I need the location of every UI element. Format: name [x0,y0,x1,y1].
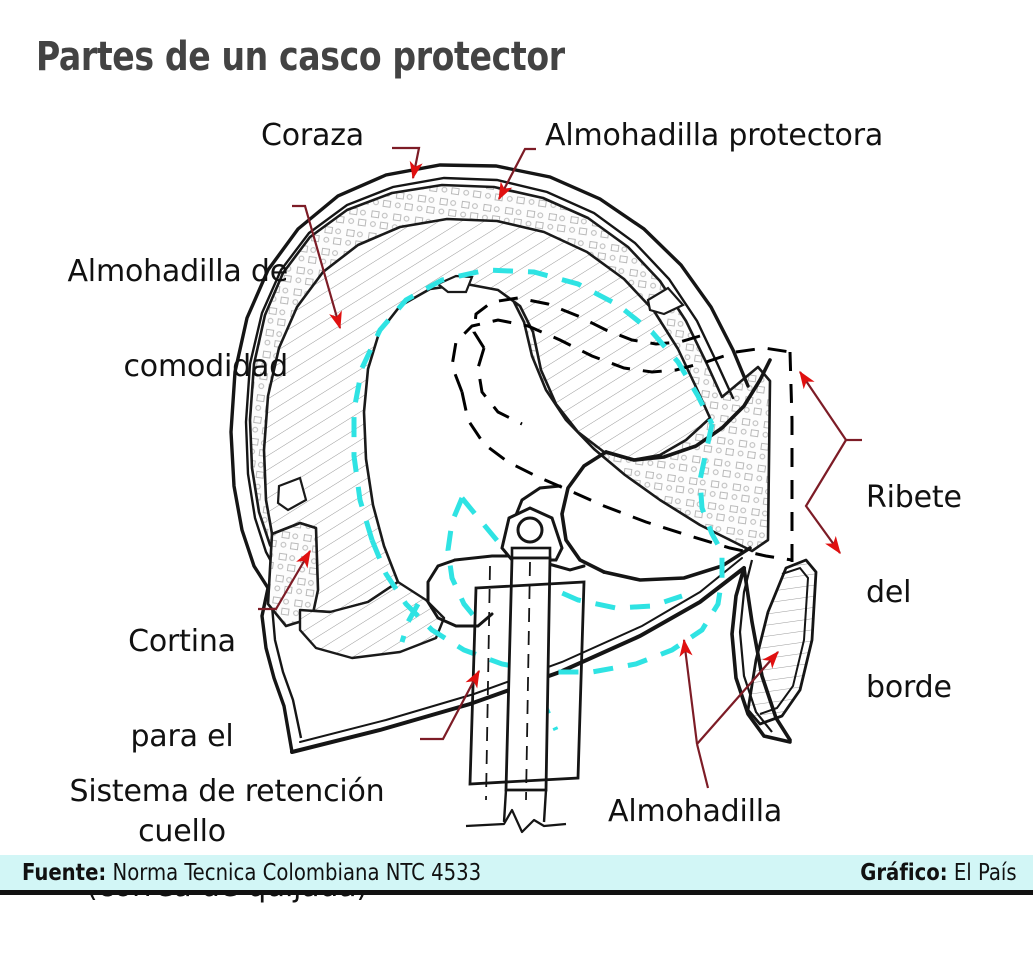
label-ribete-line2: del [866,577,1026,609]
chin-bar-pad [748,560,816,724]
label-almohadilla-protectora: Almohadilla protectora [545,120,883,152]
footer-source-value: Norma Tecnica Colombiana NTC 4533 [113,860,482,886]
label-cortina-line1: Cortina [112,626,252,658]
leader-ribete-branch-bottom [806,440,846,553]
leader-almohadilla-stem [697,744,708,788]
footer-credit-value: El País [954,860,1017,886]
leader-almohadilla-branch-left [684,640,697,744]
label-ribete-line3: borde [866,672,1026,704]
footer-source: Fuente: Norma Tecnica Colombiana NTC 453… [22,860,481,886]
helmet-cross-section-diagram: Coraza Almohadilla protectora Almohadill… [0,0,1033,855]
label-ribete-line1: Ribete [866,482,1026,514]
label-sistema-de-retencion: Sistema de retención (correa de quijada) [40,712,414,966]
label-sistema-line1: Sistema de retención [40,776,414,808]
label-almohadilla: Almohadilla [608,796,782,828]
footer-bar: Fuente: Norma Tecnica Colombiana NTC 453… [0,855,1033,895]
footer-source-label: Fuente: [22,860,106,886]
footer-credit-label: Gráfico: [861,860,948,886]
label-almohadilla-comodidad: Almohadilla de comodidad [26,192,288,446]
footer-credit: Gráfico: El País [861,860,1017,886]
label-coraza: Coraza [261,120,364,152]
label-ribete-del-borde: Ribete del borde [866,418,1026,768]
label-almohadilla-comodidad-line2: comodidad [26,351,288,383]
label-almohadilla-comodidad-line1: Almohadilla de [26,256,288,288]
leader-ribete-branch-top [800,372,846,440]
